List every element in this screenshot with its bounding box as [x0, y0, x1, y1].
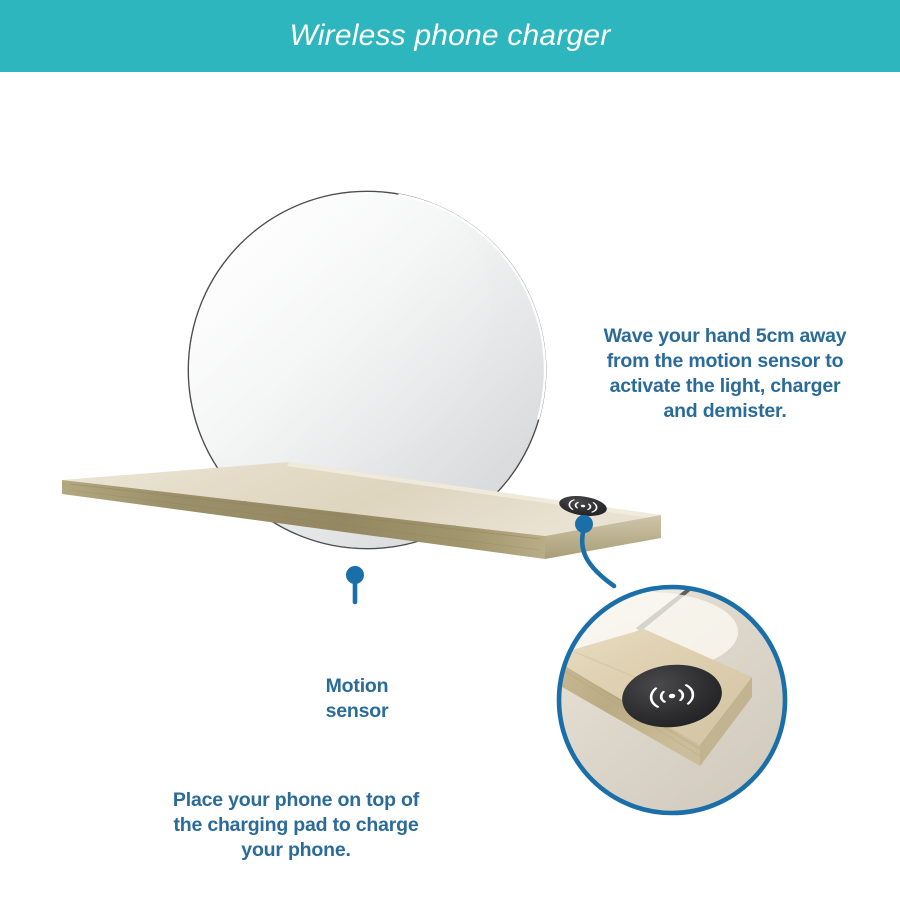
- page-title: Wireless phone charger: [290, 19, 611, 53]
- callout-place-phone: Place your phone on top of the charging …: [128, 788, 464, 863]
- leader-dot-motion-sensor: [346, 566, 364, 584]
- leader-line-motion-sensor: [346, 566, 364, 602]
- header-bar: Wireless phone charger: [0, 0, 900, 72]
- product-illustration: Wave your hand 5cm away from the motion …: [0, 72, 900, 900]
- infographic-page: Wireless phone charger: [0, 0, 900, 900]
- mirror-highlight: [110, 142, 490, 472]
- callout-motion-sensor-label: Motion sensor: [284, 674, 430, 724]
- leader-dot-charging-pad: [575, 515, 593, 533]
- callout-wave-hand: Wave your hand 5cm away from the motion …: [572, 324, 878, 424]
- magnifier-detail: [548, 583, 791, 819]
- scene-svg: [0, 72, 900, 900]
